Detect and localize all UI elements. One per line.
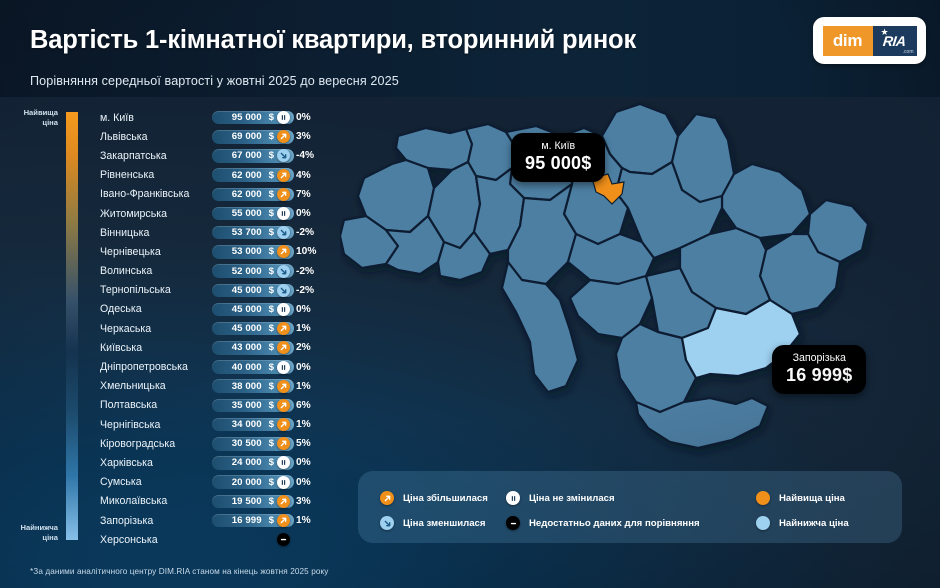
region-name: Одеська bbox=[100, 303, 212, 315]
region-name: Сумська bbox=[100, 476, 212, 488]
table-row[interactable]: Запорізька16 999$1% bbox=[100, 511, 344, 530]
legend-item: Недостатньо даних для порівняння bbox=[506, 516, 700, 530]
region-name: Івано-Франківська bbox=[100, 188, 212, 200]
price-value: 62 000 bbox=[232, 189, 262, 200]
price-value: 35 000 bbox=[232, 400, 262, 411]
price-value: 69 000 bbox=[232, 131, 262, 142]
price-value: 40 000 bbox=[232, 362, 262, 373]
callout-zaporizhzhia: Запорізька 16 999$ bbox=[772, 345, 866, 394]
table-row[interactable]: Львівська69 000$3% bbox=[100, 127, 344, 146]
price-value: 45 000 bbox=[232, 304, 262, 315]
legend-label: Ціна зменшилася bbox=[403, 518, 485, 529]
callout-zaporizhzhia-name: Запорізька bbox=[786, 352, 852, 364]
currency-symbol: $ bbox=[269, 419, 274, 430]
percent-change: 3% bbox=[296, 496, 311, 507]
table-row[interactable]: Київська43 000$2% bbox=[100, 338, 344, 357]
percent-change: 0% bbox=[296, 362, 311, 373]
legend-label: Найнижча ціна bbox=[779, 518, 849, 529]
ukraine-map bbox=[340, 92, 940, 470]
percent-change: 1% bbox=[296, 381, 311, 392]
callout-kyiv: м. Київ 95 000$ bbox=[511, 133, 605, 182]
logo-dim-text: dim bbox=[823, 26, 873, 56]
currency-symbol: $ bbox=[269, 246, 274, 257]
footer-note: *За даними аналітичного центру DIM.RIA с… bbox=[30, 567, 328, 576]
percent-change: 1% bbox=[296, 323, 311, 334]
trend-up-icon bbox=[277, 380, 290, 393]
percent-change: -4% bbox=[296, 150, 314, 161]
currency-symbol: $ bbox=[269, 189, 274, 200]
trend-up-icon bbox=[277, 418, 290, 431]
currency-symbol: $ bbox=[269, 208, 274, 219]
percent-change: 7% bbox=[296, 189, 311, 200]
percent-change: -2% bbox=[296, 285, 314, 296]
table-row[interactable]: Сумська20 000$0% bbox=[100, 473, 344, 492]
percent-change: 10% bbox=[296, 246, 316, 257]
region-name: Волинська bbox=[100, 265, 212, 277]
price-value: 24 000 bbox=[232, 457, 262, 468]
table-row[interactable]: Полтавська35 000$6% bbox=[100, 396, 344, 415]
percent-change: 1% bbox=[296, 515, 311, 526]
trend-flat-icon bbox=[277, 207, 290, 220]
region-name: Тернопільська bbox=[100, 284, 212, 296]
currency-symbol: $ bbox=[269, 362, 274, 373]
price-value: 55 000 bbox=[232, 208, 262, 219]
legend-label: Найвища ціна bbox=[779, 493, 845, 504]
table-row[interactable]: Хмельницька38 000$1% bbox=[100, 377, 344, 396]
scale-label-highest: Найвища ціна bbox=[0, 108, 58, 127]
trend-flat-icon bbox=[277, 361, 290, 374]
page-title: Вартість 1-кімнатної квартири, вторинний… bbox=[30, 26, 636, 55]
percent-change: 0% bbox=[296, 304, 311, 315]
table-row[interactable]: Кіровоградська30 500$5% bbox=[100, 434, 344, 453]
price-scale-gradient bbox=[66, 112, 78, 540]
table-row[interactable]: Чернівецька53 000$10% bbox=[100, 242, 344, 261]
region-name: Полтавська bbox=[100, 399, 212, 411]
price-value: 95 000 bbox=[232, 112, 262, 123]
scale-label-lowest: Найнижча ціна bbox=[0, 523, 58, 588]
region-kharkiv bbox=[722, 164, 810, 238]
price-value: 52 000 bbox=[232, 266, 262, 277]
table-row[interactable]: Одеська45 000$0% bbox=[100, 300, 344, 319]
currency-symbol: $ bbox=[269, 342, 274, 353]
region-name: м. Київ bbox=[100, 112, 212, 124]
callout-kyiv-value: 95 000$ bbox=[525, 153, 591, 174]
table-row[interactable]: Тернопільська45 000$-2% bbox=[100, 281, 344, 300]
arrow-down-right-icon bbox=[380, 516, 394, 530]
trend-up-icon bbox=[277, 169, 290, 182]
scale-label-highest-line1: Найвища bbox=[0, 108, 58, 118]
price-value: 43 000 bbox=[232, 342, 262, 353]
price-value: 62 000 bbox=[232, 170, 262, 181]
price-value: 45 000 bbox=[232, 323, 262, 334]
region-name: Харківська bbox=[100, 457, 212, 469]
price-value: 38 000 bbox=[232, 381, 262, 392]
legend-item: Найвища ціна bbox=[756, 491, 845, 505]
region-name: Чернівецька bbox=[100, 246, 212, 258]
price-value: 67 000 bbox=[232, 150, 262, 161]
legend-item: Ціна зменшилася bbox=[380, 516, 485, 530]
percent-change: 6% bbox=[296, 400, 311, 411]
logo-ria-block: ★ RIA .com bbox=[873, 26, 917, 56]
currency-symbol: $ bbox=[269, 131, 274, 142]
currency-symbol: $ bbox=[269, 400, 274, 411]
logo-dotcom-text: .com bbox=[903, 49, 914, 55]
trend-flat-icon bbox=[277, 111, 290, 124]
legend-item: Ціна не змінилася bbox=[506, 491, 615, 505]
arrow-up-right-icon bbox=[380, 491, 394, 505]
pause-icon bbox=[506, 491, 520, 505]
currency-symbol: $ bbox=[269, 266, 274, 277]
price-value: 53 700 bbox=[232, 227, 262, 238]
percent-change: 0% bbox=[296, 477, 311, 488]
scale-label-lowest-line1: Найнижча bbox=[0, 523, 58, 533]
legend-label: Ціна збільшилася bbox=[403, 493, 488, 504]
region-price-table: м. Київ95 000$0%Львівська69 000$3%Закарп… bbox=[100, 108, 344, 549]
currency-symbol: $ bbox=[269, 438, 274, 449]
price-value: 34 000 bbox=[232, 419, 262, 430]
logo-ria-text: RIA bbox=[882, 33, 906, 49]
dimria-logo[interactable]: dim ★ RIA .com bbox=[813, 17, 926, 64]
percent-change: -2% bbox=[296, 227, 314, 238]
region-name: Вінницька bbox=[100, 227, 212, 239]
region-name: Рівненська bbox=[100, 169, 212, 181]
region-name: Київська bbox=[100, 342, 212, 354]
region-name: Кіровоградська bbox=[100, 438, 212, 450]
trend-flat-icon bbox=[277, 476, 290, 489]
table-row[interactable]: Івано-Франківська62 000$7% bbox=[100, 185, 344, 204]
trend-up-icon bbox=[277, 495, 290, 508]
currency-symbol: $ bbox=[269, 381, 274, 392]
trend-flat-icon bbox=[277, 303, 290, 316]
region-name: Дніпропетровська bbox=[100, 361, 212, 373]
percent-change: 3% bbox=[296, 131, 311, 142]
table-row[interactable]: Волинська52 000$-2% bbox=[100, 262, 344, 281]
trend-down-icon bbox=[277, 265, 290, 278]
currency-symbol: $ bbox=[269, 304, 274, 315]
percent-change: 2% bbox=[296, 342, 311, 353]
table-row[interactable]: Харківська24 000$0% bbox=[100, 453, 344, 472]
infographic-root: м. Київ 95 000$ Запорізька 16 999$ Варті… bbox=[0, 0, 940, 588]
table-row[interactable]: м. Київ95 000$0% bbox=[100, 108, 344, 127]
percent-change: 5% bbox=[296, 438, 311, 449]
currency-symbol: $ bbox=[269, 457, 274, 468]
callout-zaporizhzhia-value: 16 999$ bbox=[786, 365, 852, 386]
price-value: 53 000 bbox=[232, 246, 262, 257]
scale-label-lowest-line2: ціна bbox=[0, 533, 58, 543]
trend-down-icon bbox=[277, 284, 290, 297]
minus-icon bbox=[506, 516, 520, 530]
callout-kyiv-name: м. Київ bbox=[525, 140, 591, 152]
currency-symbol: $ bbox=[269, 112, 274, 123]
legend-item: Ціна збільшилася bbox=[380, 491, 488, 505]
percent-change: 4% bbox=[296, 170, 311, 181]
legend-item: Найнижча ціна bbox=[756, 516, 849, 530]
region-name: Запорізька bbox=[100, 515, 212, 527]
trend-up-icon bbox=[277, 399, 290, 412]
region-name: Львівська bbox=[100, 131, 212, 143]
currency-symbol: $ bbox=[269, 227, 274, 238]
currency-symbol: $ bbox=[269, 515, 274, 526]
price-value: 45 000 bbox=[232, 285, 262, 296]
percent-change: 0% bbox=[296, 208, 311, 219]
region-name: Миколаївська bbox=[100, 495, 212, 507]
table-row[interactable]: Херсонська bbox=[100, 530, 344, 549]
table-row[interactable]: Чернігівська34 000$1% bbox=[100, 415, 344, 434]
price-value: 20 000 bbox=[232, 477, 262, 488]
trend-up-icon bbox=[277, 188, 290, 201]
legend-label: Ціна не змінилася bbox=[529, 493, 615, 504]
percent-change: 1% bbox=[296, 419, 311, 430]
percent-change: 0% bbox=[296, 112, 311, 123]
currency-symbol: $ bbox=[269, 477, 274, 488]
table-row[interactable]: Миколаївська19 500$3% bbox=[100, 492, 344, 511]
legend-label: Недостатньо даних для порівняння bbox=[529, 518, 700, 529]
price-value: 19 500 bbox=[232, 496, 262, 507]
region-name: Херсонська bbox=[100, 534, 212, 546]
table-row[interactable]: Вінницька53 700$-2% bbox=[100, 223, 344, 242]
legend-panel: Ціна збільшиласяЦіна зменшиласяЦіна не з… bbox=[358, 471, 902, 543]
table-row[interactable]: Закарпатська67 000$-4% bbox=[100, 146, 344, 165]
currency-symbol: $ bbox=[269, 150, 274, 161]
scale-label-highest-line2: ціна bbox=[0, 118, 58, 128]
currency-symbol: $ bbox=[269, 323, 274, 334]
currency-symbol: $ bbox=[269, 496, 274, 507]
region-name: Хмельницька bbox=[100, 380, 212, 392]
region-name: Житомирська bbox=[100, 208, 212, 220]
region-name: Закарпатська bbox=[100, 150, 212, 162]
currency-symbol: $ bbox=[269, 285, 274, 296]
price-value: 16 999 bbox=[232, 515, 262, 526]
table-row[interactable]: Черкаська45 000$1% bbox=[100, 319, 344, 338]
page-subtitle: Порівняння середньої вартості у жовтні 2… bbox=[30, 74, 399, 88]
table-row[interactable]: Житомирська55 000$0% bbox=[100, 204, 344, 223]
table-row[interactable]: Рівненська62 000$4% bbox=[100, 166, 344, 185]
dot-icon bbox=[756, 516, 770, 530]
percent-change: 0% bbox=[296, 457, 311, 468]
region-name: Чернігівська bbox=[100, 419, 212, 431]
region-name: Черкаська bbox=[100, 323, 212, 335]
currency-symbol: $ bbox=[269, 170, 274, 181]
trend-none-icon bbox=[277, 533, 290, 546]
price-value: 30 500 bbox=[232, 438, 262, 449]
percent-change: -2% bbox=[296, 266, 314, 277]
trend-up-icon bbox=[277, 514, 290, 527]
table-row[interactable]: Дніпропетровська40 000$0% bbox=[100, 357, 344, 376]
dot-icon bbox=[756, 491, 770, 505]
